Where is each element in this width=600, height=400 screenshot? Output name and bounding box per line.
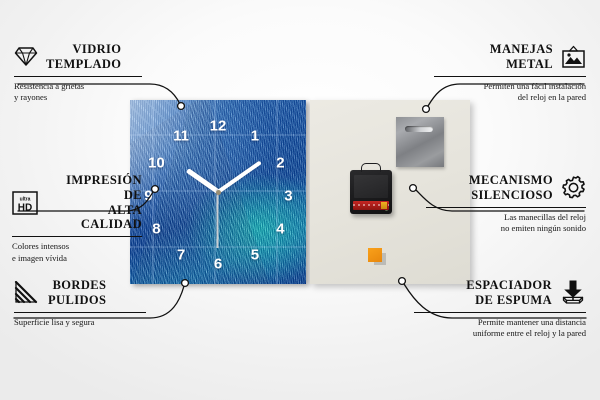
clock-numeral-9: 9 (144, 188, 152, 203)
foam-spacer (368, 248, 382, 262)
clock-hand-cap (216, 190, 221, 195)
clock-numeral-4: 4 (276, 221, 284, 236)
movement-face (354, 175, 388, 198)
callout-espaciador-espuma: ESPACIADOR DE ESPUMA Permite mantener un… (414, 278, 586, 340)
callout-description: Superficie lisa y segura (14, 317, 146, 329)
callout-title-line1: ESPACIADOR (466, 278, 552, 293)
clock-numeral-5: 5 (251, 247, 259, 262)
clock-movement (350, 170, 392, 214)
clock-numeral-3: 3 (284, 188, 292, 203)
movement-handle (361, 163, 381, 172)
callout-title-line1: BORDES (48, 278, 106, 293)
infographic-canvas: 12 1 2 3 4 5 6 7 8 9 10 11 (0, 0, 600, 400)
callout-title-line2: SILENCIOSO (469, 188, 553, 203)
picture-hanger-icon (561, 45, 586, 69)
callout-rule (434, 76, 586, 77)
clock-numeral-7: 7 (177, 247, 185, 262)
callout-description: Las manecillas del reloj no emiten ningú… (426, 212, 586, 235)
movement-battery (353, 201, 389, 210)
callout-title-line1: VIDRIO (46, 42, 121, 57)
callout-header: MANEJAS METAL (434, 42, 586, 72)
foam-spacer-icon (560, 280, 586, 305)
callout-header: ESPACIADOR DE ESPUMA (414, 278, 586, 308)
clock-numeral-1: 1 (251, 128, 259, 143)
callout-rule (426, 207, 586, 208)
callout-vidrio-templado: VIDRIO TEMPLADO Resistencia a grietas y … (14, 42, 142, 104)
callout-description: Permite mantener una distancia uniforme … (414, 317, 586, 340)
metal-hanger-icon (396, 117, 444, 167)
callout-manejas-metal: MANEJAS METAL Permiten una fácil instala… (434, 42, 586, 104)
clock-numeral-2: 2 (276, 155, 284, 170)
callout-rule (14, 312, 146, 313)
product-photo: 12 1 2 3 4 5 6 7 8 9 10 11 (130, 100, 470, 284)
callout-description: Colores intensos e imagen vívida (12, 241, 142, 264)
callout-title: MECANISMO SILENCIOSO (469, 173, 553, 203)
callout-title: VIDRIO TEMPLADO (46, 42, 121, 72)
callout-mecanismo-silencioso: MECANISMO SILENCIOSO Las manecillas del … (426, 173, 586, 235)
callout-description: Resistencia a grietas y rayones (14, 81, 142, 104)
callout-title-line1: MANEJAS (490, 42, 553, 57)
callout-title: MANEJAS METAL (490, 42, 553, 72)
clock-numeral-6: 6 (214, 256, 222, 271)
callout-title-line2: ALTA CALIDAD (46, 203, 142, 233)
callout-title-line2: DE ESPUMA (466, 293, 552, 308)
polished-edges-icon (14, 281, 40, 304)
callout-title: ESPACIADOR DE ESPUMA (466, 278, 552, 308)
callout-description: Permiten una fácil instalación del reloj… (434, 81, 586, 104)
diamond-icon (14, 46, 38, 67)
svg-text:HD: HD (18, 202, 32, 213)
callout-title-line1: MECANISMO (469, 173, 553, 188)
clock-face: 12 1 2 3 4 5 6 7 8 9 10 11 (130, 100, 306, 284)
callout-rule (414, 312, 586, 313)
callout-bordes-pulidos: BORDES PULIDOS Superficie lisa y segura (14, 278, 146, 328)
hanger-slot (405, 126, 433, 132)
callout-header: BORDES PULIDOS (14, 278, 146, 308)
callout-title-line2: PULIDOS (48, 293, 106, 308)
callout-title: BORDES PULIDOS (48, 278, 106, 308)
callout-header: VIDRIO TEMPLADO (14, 42, 142, 72)
callout-title-line2: TEMPLADO (46, 57, 121, 72)
clock-numeral-11: 11 (173, 128, 189, 143)
clock-numeral-12: 12 (210, 118, 227, 133)
callout-title-line1: IMPRESIÓN DE (46, 173, 142, 203)
callout-title-line2: METAL (490, 57, 553, 72)
gear-icon (561, 175, 586, 200)
callout-rule (14, 76, 142, 77)
callout-rule (12, 236, 142, 237)
callout-impresion-alta-calidad: ultra HD IMPRESIÓN DE ALTA CALIDAD Color… (12, 173, 142, 265)
clock-numeral-8: 8 (152, 221, 160, 236)
clock-numeral-10: 10 (148, 155, 165, 170)
callout-header: ultra HD IMPRESIÓN DE ALTA CALIDAD (12, 173, 142, 232)
callout-title: IMPRESIÓN DE ALTA CALIDAD (46, 173, 142, 232)
ultra-hd-icon: ultra HD (12, 191, 38, 215)
callout-header: MECANISMO SILENCIOSO (426, 173, 586, 203)
